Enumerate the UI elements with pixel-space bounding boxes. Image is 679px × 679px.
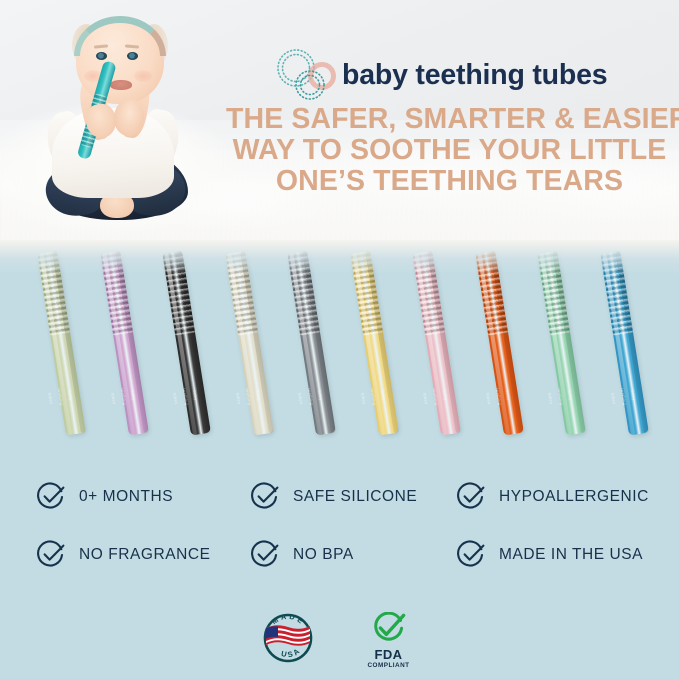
teething-tubes-lineup: baby teething tubesbaby teething tubesba… [0,224,679,434]
teething-tube-sage: baby teething tubes [37,251,86,436]
check-circle-icon [36,540,66,570]
feature-row: 0+ MONTHS SAFE SILICONE [36,482,656,512]
headline-line-3: ONE’S TEETHING TEARS [226,166,673,197]
feature-label: 0+ MONTHS [79,488,173,506]
brand-name: baby teething tubes [342,59,607,92]
teething-tube-lilac: baby teething tubes [100,251,149,436]
tube-emboss-text: baby teething tubes [626,385,639,406]
headline-line-2: WAY TO SOOTHE YOUR LITTLE [226,135,673,166]
green-check-circle-icon [371,612,407,646]
feature-label: NO BPA [293,546,354,564]
teething-tube-mint: baby teething tubes [537,251,586,436]
check-circle-icon [250,482,280,512]
teething-tube-gray: baby teething tubes [287,251,336,436]
feature-item-0-months: 0+ MONTHS [36,482,250,512]
feature-item-hypoallergenic: HYPOALLERGENIC [456,482,656,512]
tube-emboss-text: baby teething tubes [376,385,389,406]
feature-item-no-fragrance: NO FRAGRANCE [36,540,250,570]
fda-title: FDA [358,648,420,661]
feature-item-no-bpa: NO BPA [250,540,456,570]
made-in-usa-badge: MADE IN USA [260,612,316,664]
feature-label: HYPOALLERGENIC [499,488,649,506]
baby-mouth [110,80,132,90]
tube-emboss-text: baby teething tubes [126,385,139,406]
brand-logo-block: baby teething tubes [272,46,602,104]
baby-cheek-right [134,70,152,82]
certification-badges: MADE IN USA FDA C [0,612,679,669]
fda-subtitle: COMPLIANT [358,662,420,669]
check-circle-icon [456,482,486,512]
teething-tube-charcoal: baby teething tubes [162,251,211,436]
feature-list: 0+ MONTHS SAFE SILICONE [36,482,656,598]
overlapping-dotted-circles-logo-icon [272,47,338,103]
teething-tube-yellow: baby teething tubes [350,251,399,436]
baby-photo [0,0,240,250]
feature-item-made-in-usa: MADE IN THE USA [456,540,656,570]
teething-tube-pink: baby teething tubes [412,251,461,436]
feature-label: SAFE SILICONE [293,488,417,506]
feature-label: NO FRAGRANCE [79,546,210,564]
teething-tube-ivory: baby teething tubes [225,251,274,436]
feature-row: NO FRAGRANCE NO BPA MADE [36,540,656,570]
product-marketing-image: baby teething tubes THE SAFER, SMARTER &… [0,0,679,679]
tube-emboss-text: baby teething tubes [501,385,514,406]
check-circle-icon [456,540,486,570]
teething-tube-orange: baby teething tubes [475,251,524,436]
baby-headband [74,16,166,56]
headline-line-1: THE SAFER, SMARTER & EASIER [226,104,673,135]
teething-tube-blue: baby teething tubes [600,251,649,436]
check-circle-icon [250,540,280,570]
usa-flag-seal-icon: MADE IN USA [260,612,316,664]
check-circle-icon [36,482,66,512]
feature-label: MADE IN THE USA [499,546,643,564]
headline: THE SAFER, SMARTER & EASIER WAY TO SOOTH… [226,104,673,197]
fda-compliant-badge: FDA COMPLIANT [358,612,420,669]
tube-emboss-text: baby teething tubes [251,385,264,406]
feature-item-safe-silicone: SAFE SILICONE [250,482,456,512]
